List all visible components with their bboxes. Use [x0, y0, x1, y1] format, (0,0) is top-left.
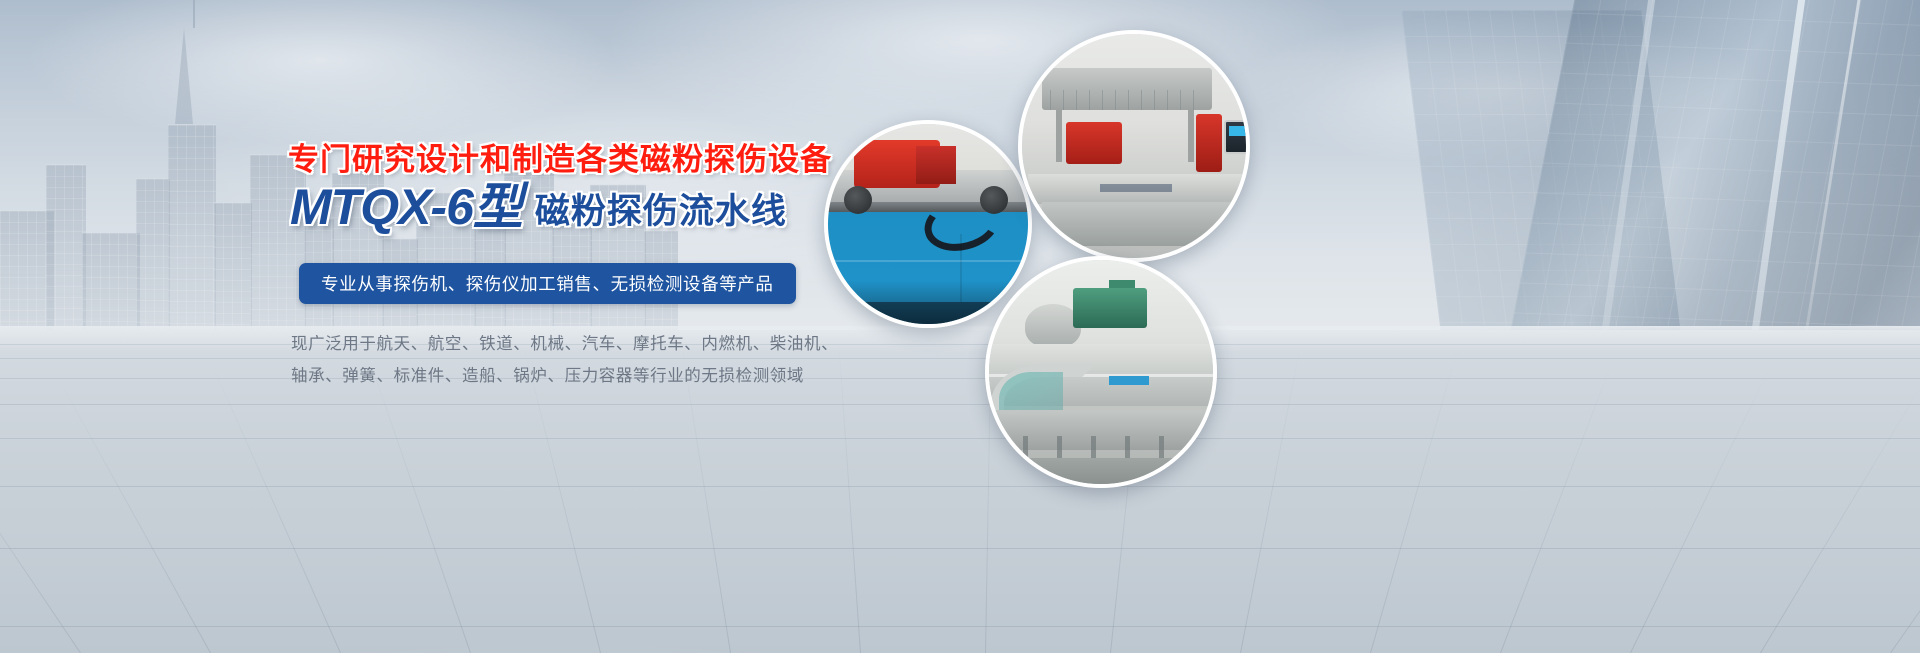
tagline-pill-button[interactable]: 专业从事探伤机、探伤仪加工销售、无损检测设备等产品	[299, 263, 796, 304]
headline-main: MTQX-6型 磁粉探伤流水线	[290, 182, 787, 232]
product-name-text: 磁粉探伤流水线	[535, 192, 787, 232]
promo-banner: 专门研究设计和制造各类磁粉探伤设备 MTQX-6型 磁粉探伤流水线 专业从事探伤…	[0, 0, 1920, 653]
photo-bubble-workstation[interactable]	[1018, 30, 1250, 262]
description-block: 现广泛用于航天、航空、铁道、机械、汽车、摩托车、内燃机、柴油机、 轴承、弹簧、标…	[291, 328, 838, 392]
banner-copy: 专门研究设计和制造各类磁粉探伤设备 MTQX-6型 磁粉探伤流水线 专业从事探伤…	[0, 0, 840, 653]
description-line-1: 现广泛用于航天、航空、铁道、机械、汽车、摩托车、内燃机、柴油机、	[291, 328, 838, 360]
control-screen-icon	[1224, 120, 1250, 154]
tagline-pill-label: 专业从事探伤机、探伤仪加工销售、无损检测设备等产品	[321, 271, 774, 296]
photo-bubble-production-line[interactable]	[985, 256, 1217, 488]
machine-wheel-icon	[844, 186, 872, 214]
headline-red: 专门研究设计和制造各类磁粉探伤设备	[288, 134, 832, 179]
description-line-2: 轴承、弹簧、标准件、造船、锅炉、压力容器等行业的无损检测领域	[291, 360, 838, 392]
product-model-text: MTQX-6型	[290, 182, 522, 232]
